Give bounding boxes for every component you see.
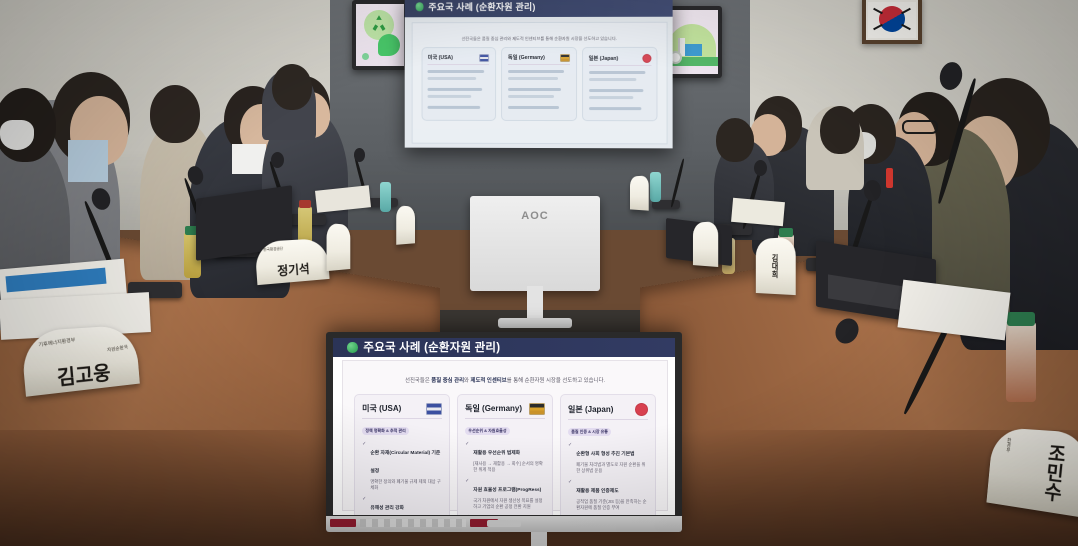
participant-right-2-glasses	[902, 120, 938, 134]
bullet-text: 유해성 관리 강화 유해물질 함유 폐기물의 재활용 시 엄격한 이력 추적(T…	[370, 496, 442, 515]
check-icon: ✓	[465, 441, 469, 473]
microphone-head-right-3[interactable]	[864, 180, 881, 201]
bullet-text: 순환 자재(Circular Material) 기준 설정 명확한 정의와 폐…	[370, 441, 442, 491]
flag-germany-icon	[529, 403, 545, 415]
projected-slide-body: 선진국들은 품질 중심 관리와 제도적 인센티브를 통해 순환자원 시장을 선도…	[412, 22, 668, 145]
globe-icon	[347, 342, 358, 353]
projected-col-lines	[428, 70, 490, 109]
nameplate-right-front: 환경부 조민수	[986, 427, 1078, 518]
check-icon: ✓	[362, 496, 366, 515]
taskbar-items[interactable]	[360, 519, 466, 527]
globe-icon	[416, 3, 424, 11]
slide: 주요국 사례 (순환자원 관리) 선진국들은 품질 중심 관리와 제도적 인센티…	[333, 338, 675, 515]
flag-japan-icon	[642, 54, 651, 63]
projected-column-germany: 독일 (Germany)	[501, 47, 576, 122]
column-germany-head: 독일 (Germany)	[465, 403, 545, 419]
projected-slide-title: 주요국 사례 (순환자원 관리)	[428, 0, 535, 13]
nameplate-jung-gi-seok: 한국환경공단 정기석	[254, 238, 329, 285]
bullet-sub: 공적업 품질 기준(JIS 등)을 만족하는 순환자원에 품질 인증 부여	[576, 499, 648, 511]
foreground-monitor: 주요국 사례 (순환자원 관리) 선진국들은 품질 중심 관리와 제도적 인센티…	[326, 332, 682, 532]
bullet-sub: 명확한 정의와 폐기물 규제 제외 대상 구체화	[370, 479, 442, 491]
wall-art-korean-flag	[862, 0, 922, 44]
column-japan-name: 일본 (Japan)	[568, 404, 613, 415]
list-item: ✓ 유해성 관리 강화 유해물질 함유 폐기물의 재활용 시 엄격한 이력 추적…	[362, 496, 442, 515]
subtitle-bold1: 품질 중심 관리	[431, 378, 464, 384]
check-icon: ✓	[362, 441, 366, 491]
nameplate-right-2: 김대희	[756, 237, 796, 295]
bottle-cap-right-1	[1007, 312, 1035, 326]
projected-column-japan: 일본 (Japan)	[582, 46, 658, 121]
check-icon: ✓	[465, 514, 469, 515]
projected-col-head: 일본 (Japan)	[589, 54, 651, 67]
taskbar-item[interactable]	[330, 519, 356, 527]
list-item: ✓ 재활용 제품 인증제도 공적업 품질 기준(JIS 등)을 만족하는 순환자…	[568, 479, 648, 511]
column-usa-tag: 정책 명확화 & 추적 관리	[362, 427, 409, 435]
aoc-logo: AOC	[521, 210, 548, 222]
eco-building	[684, 44, 702, 56]
projected-col-name: 독일 (Germany)	[508, 54, 545, 61]
bullet-main: 재활용 우선순위 법제화	[473, 451, 520, 456]
left-display	[352, 0, 408, 70]
slide-subtitle: 선진국들은 품질 중심 관리와 제도적 인센티브를 통해 순환자원 시장을 선도…	[343, 361, 667, 384]
projected-slide: 주요국 사례 (순환자원 관리) 선진국들은 품질 중심 관리와 제도적 인센티…	[405, 0, 673, 148]
monitor-neck	[527, 286, 543, 322]
trigram-bar	[901, 24, 911, 30]
projected-slide-header: 주요국 사례 (순환자원 관리)	[405, 0, 673, 18]
slide-body: 선진국들은 품질 중심 관리와 제도적 인센티브를 통해 순환자원 시장을 선도…	[342, 360, 668, 511]
bullet-main: 자원 효율성 프로그램(ProgRess)	[473, 488, 541, 493]
nameplate-name: 김고웅	[20, 325, 141, 412]
flag-germany-icon	[560, 54, 570, 62]
microphone-head-right-4[interactable]	[754, 160, 767, 176]
projected-slide-subtitle: 선진국들은 품질 중심 관리와 제도적 인센티브를 통해 순환자원 시장을 선도…	[413, 23, 667, 42]
column-usa-bullets: ✓ 순환 자재(Circular Material) 기준 설정 명확한 정의와…	[362, 441, 442, 515]
column-germany-tag: 우선순위 & 자원효율성	[465, 427, 510, 435]
nameplate-right-4	[630, 175, 649, 210]
check-icon: ✓	[568, 442, 572, 474]
check-icon: ✓	[568, 479, 572, 511]
nameplate-right-3	[693, 221, 718, 267]
column-japan: 일본 (Japan) 품질 인증 & 시장 유통 ✓ 순환형 사회 형성 추진 …	[560, 394, 656, 515]
bottle-cap-left-2	[299, 200, 311, 208]
column-germany: 독일 (Germany) 우선순위 & 자원효율성 ✓ 재활용 우선순위 법제화…	[457, 394, 553, 515]
bullet-sub: 국가 차원에서 자원 생산성 목표를 설정하고 기업의 순환 공정 전환 지원	[473, 498, 545, 510]
column-japan-tag: 품질 인증 & 시장 유통	[568, 428, 611, 436]
nameplate-left-far-2	[396, 205, 415, 245]
projected-col-name: 미국 (USA)	[428, 54, 453, 61]
trigram-bar	[873, 8, 883, 14]
list-item: ✓ 에너지 회수보다 물질 재활용을 최우선 정책으로 추진	[465, 514, 545, 515]
bullet-main: 순환 자재(Circular Material) 기준 설정	[370, 451, 440, 474]
projected-column-usa: 미국 (USA)	[421, 47, 496, 122]
participant-left-3-head	[150, 85, 200, 143]
bullet-text: 재활용 제품 인증제도 공적업 품질 기준(JIS 등)을 만족하는 순환자원에…	[576, 479, 648, 511]
bottle-cap-right-2	[779, 228, 793, 237]
water-bottle-right-4[interactable]	[650, 172, 661, 202]
check-icon: ✓	[465, 478, 469, 510]
bullet-sub: [재사용 → 재활용 → 회수] 순서의 명확한 위계 적용	[473, 461, 545, 473]
subtitle-prefix: 선진국들은	[405, 378, 431, 384]
column-japan-bullets: ✓ 순환형 사회 형성 추진 기본법 폐기물 처리법과 별도로 자원 순환을 위…	[568, 442, 648, 515]
monitor-base	[498, 318, 572, 328]
projected-col-lines	[589, 71, 651, 110]
projected-col-name: 일본 (Japan)	[589, 55, 619, 62]
projected-col-head: 미국 (USA)	[428, 54, 490, 65]
monitor-bezel	[326, 516, 682, 532]
decor-dot	[362, 53, 369, 60]
participant-right-6-head	[820, 106, 860, 154]
id-badge-lanyard	[886, 168, 893, 188]
green-pin-icon	[378, 34, 400, 56]
trigram-bar	[901, 8, 911, 14]
list-item: ✓ 자원 효율성 프로그램(ProgRess) 국가 차원에서 자원 생산성 목…	[465, 478, 545, 510]
water-bottle-right-1[interactable]	[1006, 322, 1036, 402]
microphone-head-left-3[interactable]	[271, 152, 284, 168]
bullet-text: 재활용 우선순위 법제화 [재사용 → 재활용 → 회수] 순서의 명확한 위계…	[473, 441, 545, 473]
column-japan-head: 일본 (Japan)	[568, 403, 648, 420]
column-usa: 미국 (USA) 정책 명확화 & 추적 관리 ✓ 순환 자재(Circular…	[354, 394, 450, 515]
list-item: ✓ 재활용 우선순위 법제화 [재사용 → 재활용 → 회수] 순서의 명확한 …	[465, 441, 545, 473]
nameplate-left-far-1	[327, 223, 351, 271]
slide-columns: 미국 (USA) 정책 명확화 & 추적 관리 ✓ 순환 자재(Circular…	[343, 384, 667, 515]
monitor-brand-plate	[487, 520, 521, 527]
meeting-room-photo: 주요국 사례 (순환자원 관리) 선진국들은 품질 중심 관리와 제도적 인센티…	[0, 0, 1078, 546]
bullet-sub: 폐기물 처리법과 별도로 자원 순환을 위한 상위법 운용	[576, 462, 648, 474]
list-item: ✓ 순환형 사회 형성 추진 기본법 폐기물 처리법과 별도로 자원 순환을 위…	[568, 442, 648, 474]
bullet-text: 순환형 사회 형성 추진 기본법 폐기물 처리법과 별도로 자원 순환을 위한 …	[576, 442, 648, 474]
column-usa-head: 미국 (USA)	[362, 403, 442, 419]
participant-left-4-shirt	[232, 144, 266, 174]
column-germany-bullets: ✓ 재활용 우선순위 법제화 [재사용 → 재활용 → 회수] 순서의 명확한 …	[465, 441, 545, 515]
subtitle-bold2: 제도적 인센티브	[471, 378, 507, 384]
foreground-monitor-stand	[531, 532, 547, 546]
participant-right-5-head	[716, 118, 754, 162]
flag-usa-icon	[480, 54, 490, 62]
projected-columns: 미국 (USA) 독일 (Germany)	[413, 41, 667, 121]
nameplate-name: 김대희	[756, 237, 796, 295]
participant-left-6-head	[272, 64, 312, 110]
center-monitor-aoc: AOC	[470, 196, 600, 291]
nameplate-name: 정기석	[254, 238, 330, 293]
subtitle-suffix: 를 통해 순환자원 시장을 선도하고 있습니다.	[507, 378, 605, 384]
participant-left-1-collar	[68, 140, 108, 182]
water-bottle-left-3[interactable]	[380, 182, 391, 212]
bullet-main: 재활용 제품 인증제도	[576, 489, 618, 494]
flag-usa-icon	[426, 403, 442, 415]
column-usa-name: 미국 (USA)	[362, 403, 401, 414]
bullet-main: 순환형 사회 형성 추진 기본법	[576, 452, 634, 457]
nameplate-kim-go-ung: 기후에너지환경부 자원순환국 김고웅	[20, 325, 140, 397]
taeguk-symbol	[874, 2, 910, 38]
projected-col-head: 독일 (Germany)	[508, 54, 570, 66]
list-item: ✓ 순환 자재(Circular Material) 기준 설정 명확한 정의와…	[362, 441, 442, 491]
bullet-main: 유해성 관리 강화	[370, 506, 404, 511]
document-right-2[interactable]	[731, 198, 785, 226]
column-germany-name: 독일 (Germany)	[465, 403, 522, 414]
bullet-text: 자원 효율성 프로그램(ProgRess) 국가 차원에서 자원 생산성 목표를…	[473, 478, 545, 510]
left-display-screen	[356, 4, 404, 66]
projector-screen: 주요국 사례 (순환자원 관리) 선진국들은 품질 중심 관리와 제도적 인센티…	[405, 0, 673, 148]
flag-canvas	[868, 2, 916, 38]
slide-header: 주요국 사례 (순환자원 관리)	[333, 338, 675, 357]
foreground-monitor-screen: 주요국 사례 (순환자원 관리) 선진국들은 품질 중심 관리와 제도적 인센티…	[333, 338, 675, 515]
flag-japan-icon	[635, 403, 648, 416]
participant-left-2-mask	[0, 120, 34, 150]
microphone-head-left-4[interactable]	[354, 148, 365, 162]
slide-title: 주요국 사례 (순환자원 관리)	[363, 339, 500, 355]
projected-col-lines	[508, 70, 570, 109]
